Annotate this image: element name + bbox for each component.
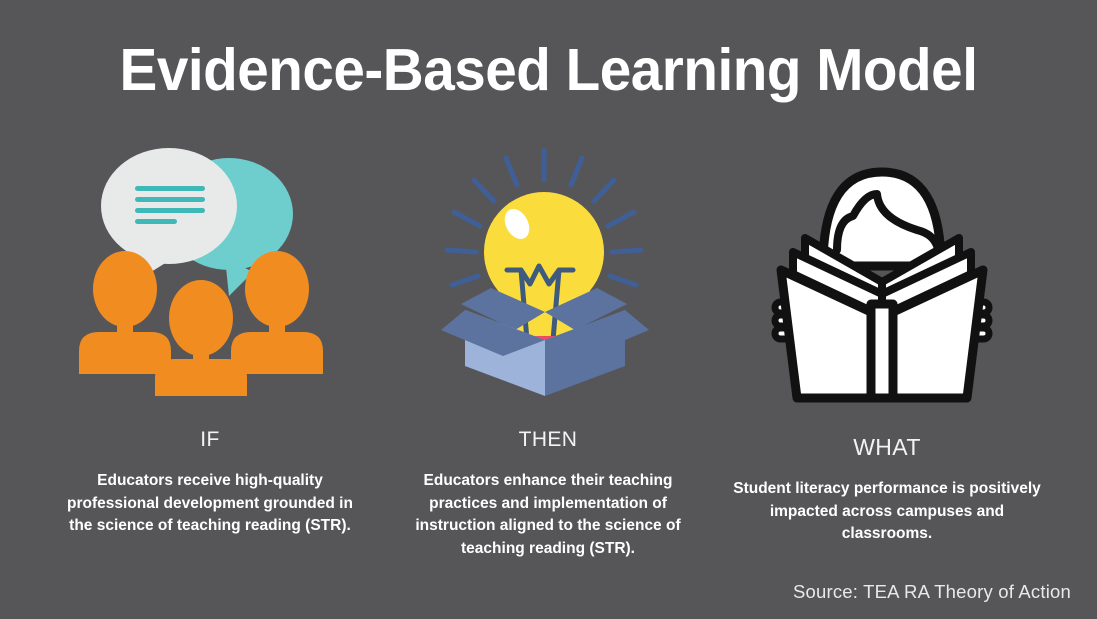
person-reading-book-icon <box>767 154 997 404</box>
reader-head-icon <box>823 172 941 266</box>
icon-area-then <box>393 140 703 410</box>
column-label-what: WHAT <box>732 434 1042 461</box>
column-body-what: Student literacy performance is positive… <box>732 478 1042 546</box>
column-body-then: Educators enhance their teaching practic… <box>393 470 703 560</box>
person-silhouette-left-icon <box>79 251 171 374</box>
column-body-if: Educators receive high-quality professio… <box>55 470 365 538</box>
column-label-then: THEN <box>393 428 703 452</box>
column-label-if: IF <box>55 428 365 452</box>
source-note: Source: TEA RA Theory of Action <box>793 581 1071 603</box>
icon-area-if <box>55 140 365 410</box>
slide-canvas: Evidence-Based Learning Model <box>0 0 1097 619</box>
page-title: Evidence-Based Learning Model <box>22 38 1075 103</box>
people-speech-bubbles-icon <box>77 146 337 396</box>
column-if: IF Educators receive high-quality profes… <box>55 140 365 570</box>
column-then: THEN Educators enhance their teaching pr… <box>393 140 703 570</box>
lightbulb-in-box-icon <box>431 144 661 396</box>
column-what: WHAT Student literacy performance is pos… <box>732 140 1042 570</box>
person-silhouette-center-icon <box>155 280 247 396</box>
icon-area-what <box>732 140 1042 410</box>
